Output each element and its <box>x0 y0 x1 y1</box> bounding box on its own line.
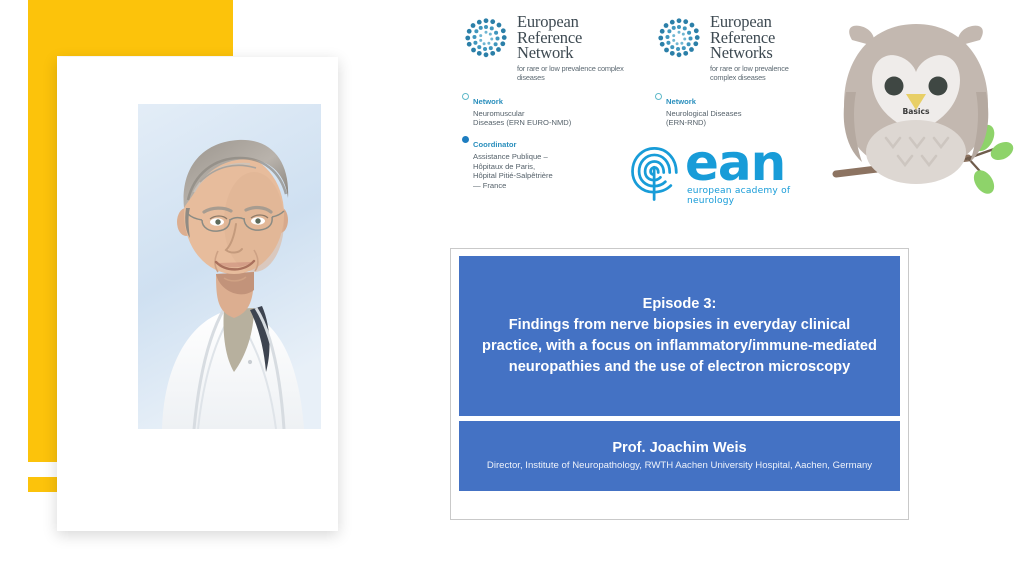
ern-word-3: Networks <box>710 45 805 61</box>
logo-ern-euro-nmd: European Reference Network for rare or l… <box>462 14 627 184</box>
ern-wordmark: European Reference Network for rare or l… <box>517 14 627 82</box>
speaker-info-box: Prof. Joachim Weis Director, Institute o… <box>459 421 900 491</box>
ern-entry-network: Network Neurological Diseases (ERN-RND) <box>655 91 805 128</box>
ern-entry-label: Coordinator <box>473 140 516 149</box>
ean-brain-spiral-icon <box>628 144 683 202</box>
episode-title-line-3: neuropathies and the use of electron mic… <box>482 357 877 378</box>
ern-entry-line: Hôpital Pitié-Salpêtrière <box>473 171 553 180</box>
episode-title-line-1: Findings from nerve biopsies in everyday… <box>482 315 877 336</box>
solid-bullet-icon <box>462 136 469 143</box>
episode-title-line-2: practice, with a focus on inflammatory/i… <box>482 336 877 357</box>
owl-mascot-icon: Basics <box>818 6 1014 202</box>
speaker-role: Director, Institute of Neuropathology, R… <box>487 459 872 473</box>
ern-entry-label: Network <box>473 97 503 106</box>
speaker-portrait <box>138 104 321 429</box>
ern-entry-line: (ERN-RND) <box>666 118 742 127</box>
ern-tagline: for rare or low prevalence complex disea… <box>517 64 627 82</box>
ean-wordmark: ean <box>685 141 808 185</box>
ern-entry-label: Network <box>666 97 696 106</box>
yellow-shape-stub <box>28 477 57 492</box>
logo-ean: ean european academy of neurology <box>628 140 808 206</box>
ern-entry-coordinator: Coordinator Assistance Publique – Hôpita… <box>462 134 627 190</box>
yellow-shape-horizontal-arm <box>28 0 233 56</box>
speaker-name: Prof. Joachim Weis <box>612 439 746 458</box>
ern-entry-line: Neuromuscular <box>473 109 571 118</box>
ern-wordmark: European Reference Networks for rare or … <box>710 14 805 82</box>
ern-entry-line: Assistance Publique – <box>473 152 553 161</box>
episode-title: Episode 3: Findings from nerve biopsies … <box>482 294 877 378</box>
ring-bullet-icon <box>655 93 662 100</box>
ern-dot-spiral-icon <box>655 14 703 62</box>
ern-entry-line: Diseases (ERN EURO-NMD) <box>473 118 571 127</box>
ern-word-3: Network <box>517 45 627 61</box>
ring-bullet-icon <box>462 93 469 100</box>
ern-dot-spiral-icon <box>462 14 510 62</box>
owl-basics-label: Basics <box>818 107 1014 116</box>
ern-entry-network: Network Neuromuscular Diseases (ERN EURO… <box>462 91 627 128</box>
ern-tagline: for rare or low prevalence complex disea… <box>710 64 805 82</box>
ern-entry-line: Hôpitaux de Paris, <box>473 162 553 171</box>
ean-subtitle: european academy of neurology <box>687 186 808 206</box>
episode-label: Episode 3: <box>482 294 877 315</box>
episode-title-box: Episode 3: Findings from nerve biopsies … <box>459 256 900 416</box>
yellow-shape-vertical-arm <box>28 0 57 462</box>
ern-entry-line: — France <box>473 181 553 190</box>
ern-entry-line: Neurological Diseases <box>666 109 742 118</box>
logo-ern-rnd: European Reference Networks for rare or … <box>655 14 805 134</box>
